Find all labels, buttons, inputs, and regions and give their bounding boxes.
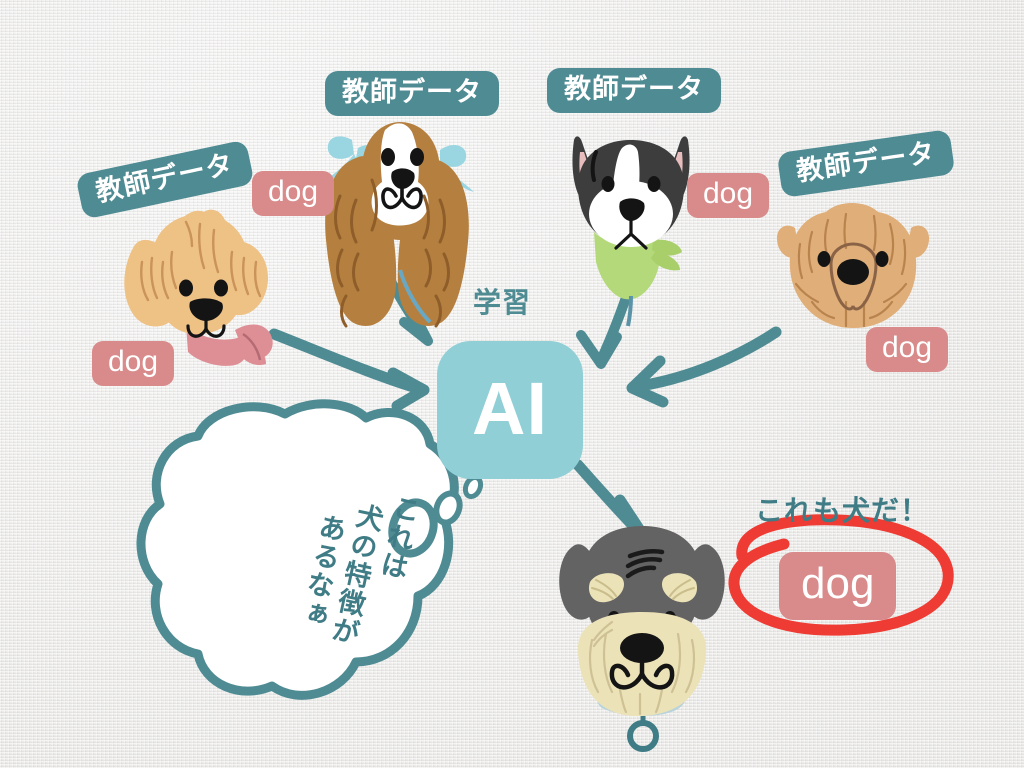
result-caption: これも犬だ！ bbox=[755, 489, 929, 529]
ai-box: AI bbox=[437, 341, 583, 479]
badge-dog-2: dog bbox=[92, 341, 174, 386]
ai-label: AI bbox=[472, 372, 548, 446]
badge-dog-1: dog bbox=[252, 171, 334, 216]
badge-teacher-data-3: 教師データ bbox=[547, 68, 721, 113]
badge-dog-4: dog bbox=[866, 327, 948, 372]
learning-caption: 学習 bbox=[473, 281, 531, 321]
illustration-canvas: これは 犬の特徴が あるなぁ 教師データ 教師データ 教師データ 教師データ d… bbox=[0, 0, 1024, 768]
badge-dog-3: dog bbox=[687, 173, 769, 218]
badge-dog-result: dog bbox=[779, 552, 896, 620]
badge-teacher-data-2: 教師データ bbox=[325, 71, 499, 116]
